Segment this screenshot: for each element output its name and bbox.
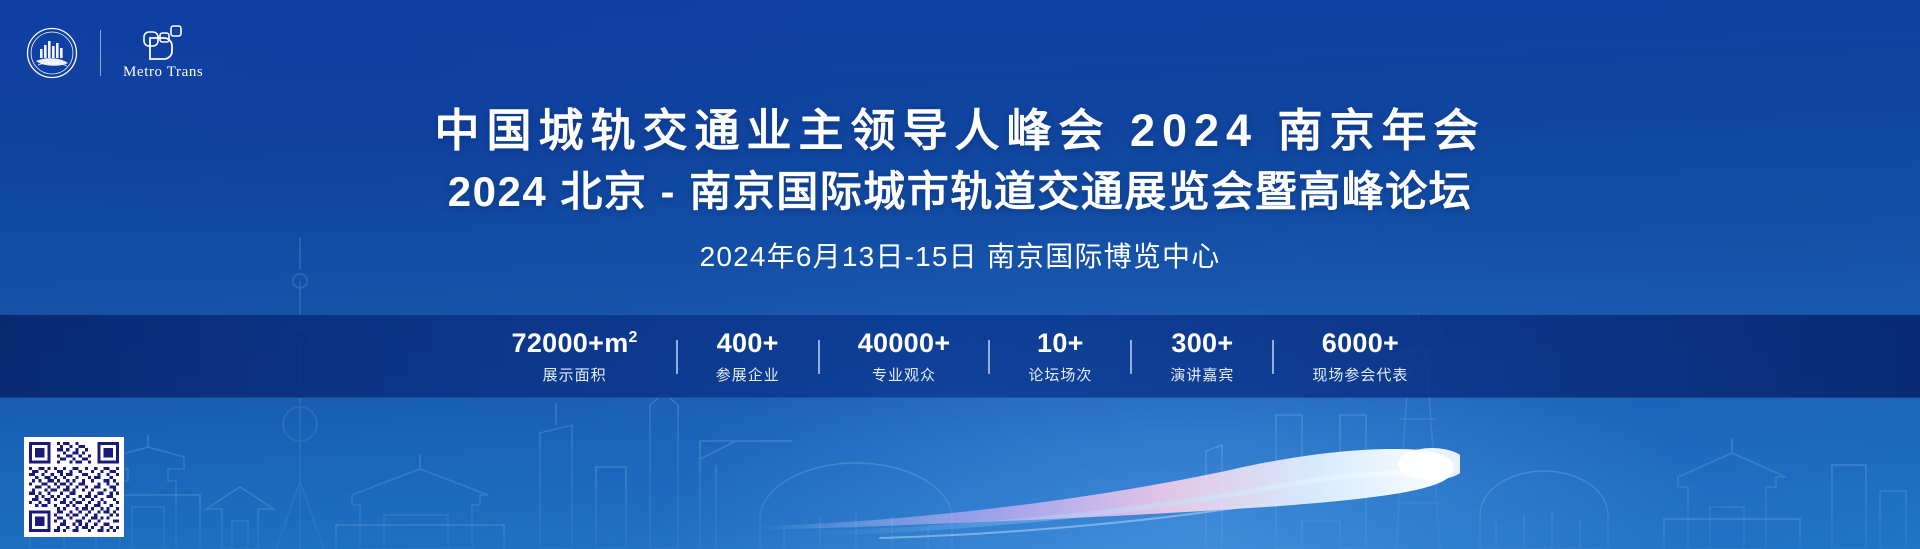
high-speed-train-graphic	[760, 430, 1460, 540]
stat-label: 展示面积	[512, 364, 638, 385]
stat-value: 72000+m2	[512, 329, 638, 357]
stat-value: 6000+	[1312, 329, 1408, 357]
stat-divider	[818, 340, 820, 374]
stat-value: 400+	[716, 329, 780, 357]
conference-banner: Metro Trans 中国城轨交通业主领导人峰会 2024 南京年会 2024…	[0, 0, 1920, 549]
stat-divider	[988, 340, 990, 374]
stat-label: 专业观众	[858, 364, 951, 385]
stat-item: 40000+专业观众	[836, 329, 973, 385]
stat-item: 300+演讲嘉宾	[1148, 329, 1256, 385]
stat-divider	[1272, 340, 1274, 374]
stat-divider	[1130, 340, 1132, 374]
banner-title-block: 中国城轨交通业主领导人峰会 2024 南京年会 2024 北京 - 南京国际城市…	[0, 0, 1920, 275]
stat-value: 10+	[1028, 329, 1092, 357]
statistics-ribbon: 72000+m2展示面积400+参展企业40000+专业观众10+论坛场次300…	[0, 314, 1920, 398]
stat-divider	[676, 340, 678, 374]
statistics-row: 72000+m2展示面积400+参展企业40000+专业观众10+论坛场次300…	[0, 315, 1920, 399]
event-info: 2024年6月13日-15日 南京国际博览中心	[0, 235, 1920, 275]
stat-label: 参展企业	[716, 364, 780, 385]
stat-label: 现场参会代表	[1312, 364, 1408, 385]
stat-label: 论坛场次	[1028, 364, 1092, 385]
stat-item: 400+参展企业	[694, 329, 802, 385]
page-subtitle: 2024 北京 - 南京国际城市轨道交通展览会暨高峰论坛	[0, 167, 1920, 217]
stat-item: 6000+现场参会代表	[1290, 329, 1430, 385]
stat-value: 300+	[1170, 329, 1234, 357]
stat-item: 72000+m2展示面积	[490, 329, 660, 385]
stat-item: 10+论坛场次	[1006, 329, 1114, 385]
page-title: 中国城轨交通业主领导人峰会 2024 南京年会	[0, 104, 1920, 157]
stat-value: 40000+	[858, 329, 951, 357]
qr-code-icon[interactable]	[24, 437, 124, 537]
stat-value-superscript: 2	[629, 329, 638, 346]
stat-label: 演讲嘉宾	[1170, 364, 1234, 385]
